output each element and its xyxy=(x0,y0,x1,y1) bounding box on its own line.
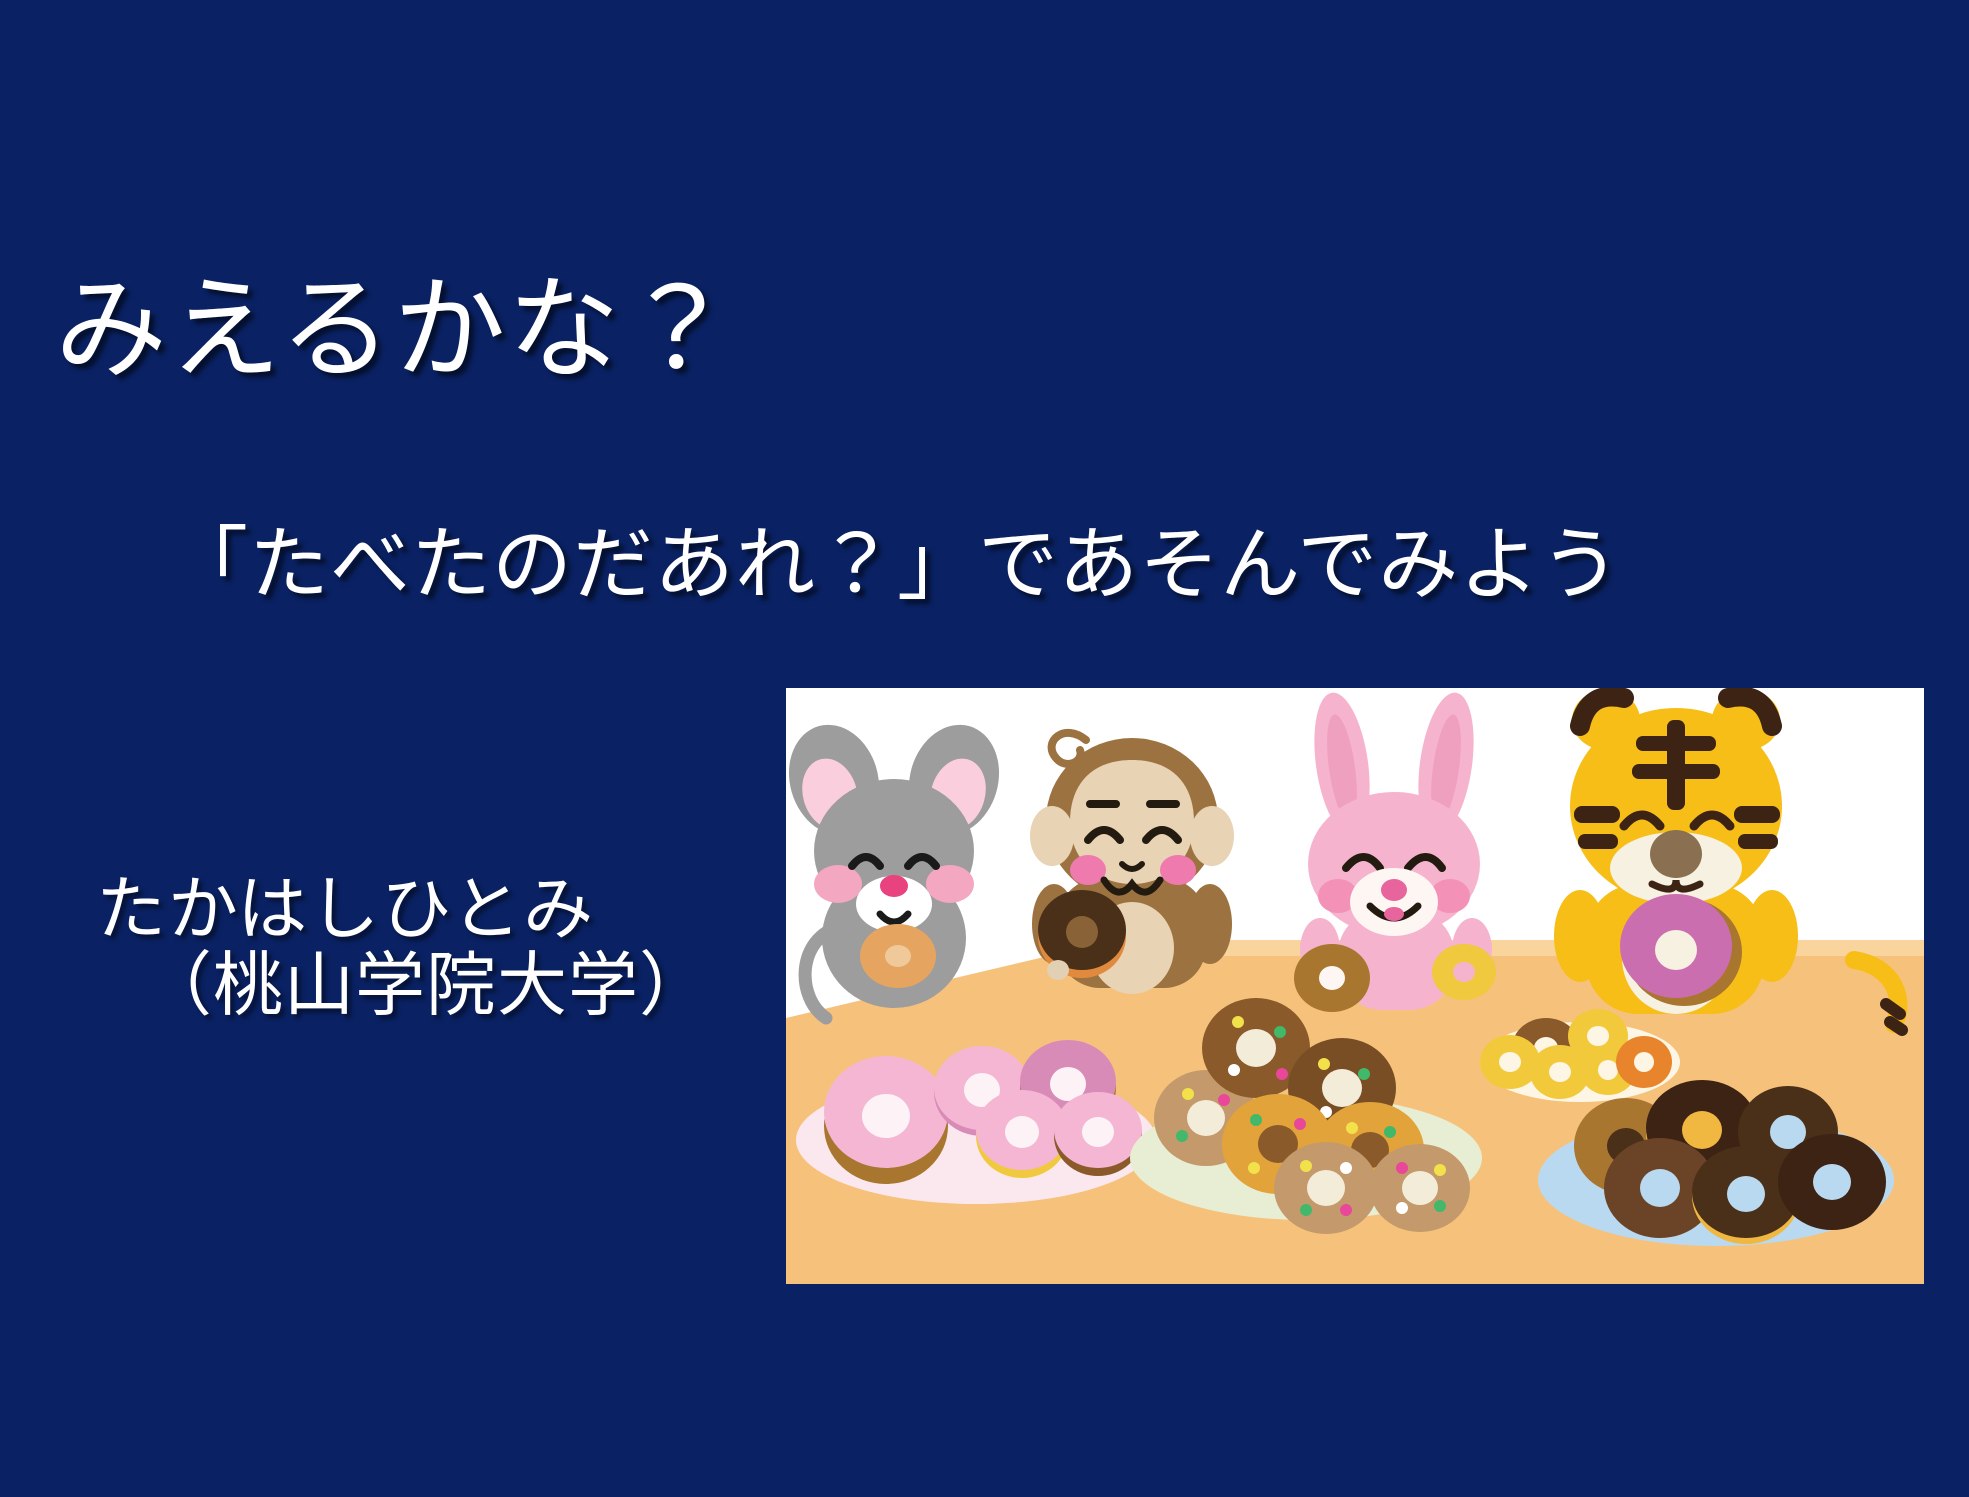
title-slide: みえるかな？ 「たべたのだあれ？」であそんでみよう たかはしひとみ （桃山学院大… xyxy=(0,0,1969,1497)
page-title: みえるかな？ xyxy=(55,274,736,386)
animals-eating-donuts-illustration xyxy=(786,688,1924,1284)
author-affiliation: （桃山学院大学） xyxy=(142,948,710,1024)
author-name: たかはしひとみ xyxy=(96,872,710,948)
illustration-svg xyxy=(786,688,1924,1284)
page-subtitle: 「たべたのだあれ？」であそんでみよう xyxy=(168,525,1621,605)
author-block: たかはしひとみ （桃山学院大学） xyxy=(96,872,710,1023)
